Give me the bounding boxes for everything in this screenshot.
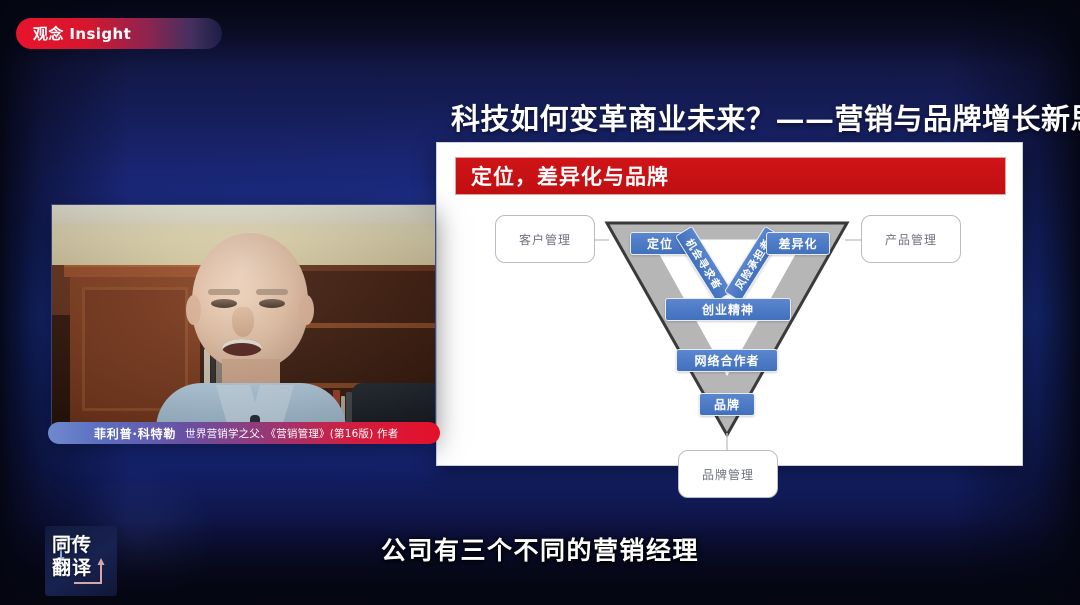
slide-banner-title: 定位，差异化与品牌 bbox=[471, 161, 669, 191]
box-customer-management: 客户管理 bbox=[495, 215, 595, 263]
box-brand-management: 品牌管理 bbox=[678, 450, 778, 498]
brand-logo-label: 观念 Insight bbox=[33, 23, 131, 44]
slide-banner: 定位，差异化与品牌 bbox=[455, 157, 1006, 195]
box-customer-management-label: 客户管理 bbox=[519, 231, 571, 248]
positioning-triangle-diagram: 客户管理 产品管理 品牌管理 定位 机会寻求者 风险承担者 差异化 创业精神 bbox=[437, 195, 1022, 465]
chip-differentiation: 差异化 bbox=[766, 232, 830, 255]
chip-entrepreneurship-label: 创业精神 bbox=[702, 301, 754, 318]
chip-brand: 品牌 bbox=[699, 393, 755, 416]
speaker-video-feed[interactable] bbox=[52, 205, 435, 438]
video-lighting-overlay bbox=[52, 205, 435, 438]
box-product-management-label: 产品管理 bbox=[885, 231, 937, 248]
speaker-description: 世界营销学之父、《营销管理》(第16版) 作者 bbox=[185, 426, 398, 441]
chip-positioning-label: 定位 bbox=[647, 235, 673, 252]
broadcast-stage: 观念 Insight 科技如何变革商业未来？——营销与品牌增长新思维 定位，差异… bbox=[0, 0, 1080, 605]
chip-network-partner-label: 网络合作者 bbox=[694, 352, 759, 369]
speaker-nameplate: 菲利普·科特勒 世界营销学之父、《营销管理》(第16版) 作者 bbox=[48, 422, 440, 444]
presentation-slide: 定位，差异化与品牌 客户管理 产品管理 品牌管理 定位 bbox=[437, 143, 1022, 465]
chip-brand-label: 品牌 bbox=[714, 396, 740, 413]
box-brand-management-label: 品牌管理 bbox=[702, 466, 754, 483]
chip-network-partner: 网络合作者 bbox=[676, 349, 778, 372]
brand-logo-badge: 观念 Insight bbox=[16, 18, 222, 49]
speaker-name: 菲利普·科特勒 bbox=[94, 425, 176, 442]
deck-title: 科技如何变革商业未来？——营销与品牌增长新思维 bbox=[451, 96, 1051, 138]
chip-differentiation-label: 差异化 bbox=[778, 235, 817, 252]
box-product-management: 产品管理 bbox=[861, 215, 961, 263]
live-caption: 公司有三个不同的营销经理 bbox=[0, 531, 1080, 567]
chip-entrepreneurship: 创业精神 bbox=[665, 298, 791, 321]
